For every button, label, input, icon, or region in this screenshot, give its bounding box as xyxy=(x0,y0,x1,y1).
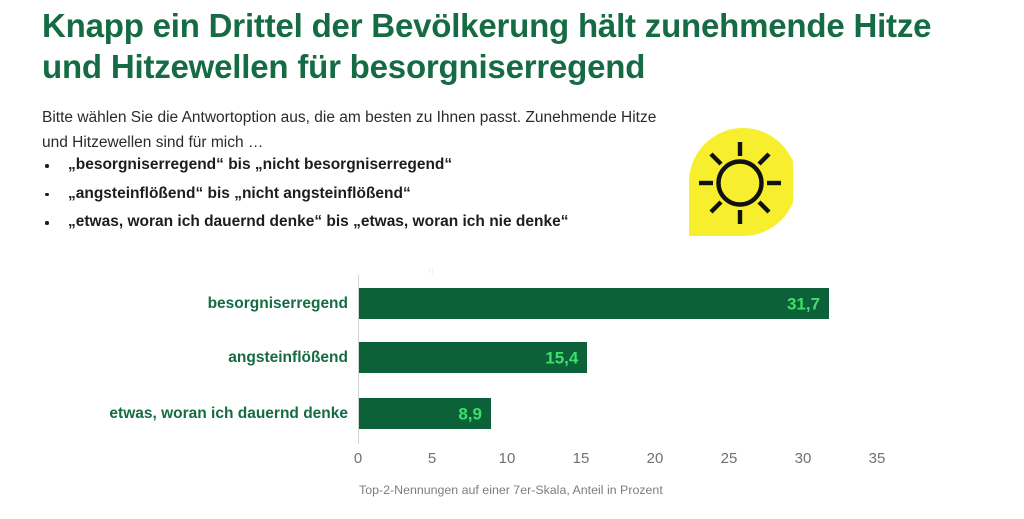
bar-value-label-1: 15,4 xyxy=(545,349,578,366)
xtick-label-30: 30 xyxy=(783,451,823,466)
xtick-label-20: 20 xyxy=(635,451,675,466)
xtick-label-10: 10 xyxy=(487,451,527,466)
sun-in-map-pin-icon xyxy=(687,126,793,238)
axis-note: Top-2-Nennungen auf einer 7er-Skala, Ant… xyxy=(359,484,663,496)
list-item: „besorgniserregend“ bis „nicht besorgnis… xyxy=(42,157,682,173)
category-label-0: besorgniserregend xyxy=(48,296,348,312)
category-label-1: angsteinflößend xyxy=(48,350,348,366)
page-title: Knapp ein Drittel der Bevölkerung hält z… xyxy=(42,6,942,88)
scale-option-list: „besorgniserregend“ bis „nicht besorgnis… xyxy=(42,157,682,243)
list-item-label: „angsteinflößend“ bis „nicht angsteinflö… xyxy=(68,185,411,202)
question-intro-text: Bitte wählen Sie die Antwortoption aus, … xyxy=(42,105,662,155)
bullet-dot-icon xyxy=(45,193,49,197)
list-item-label: „besorgniserregend“ bis „nicht besorgnis… xyxy=(68,156,452,173)
bar-value-label-0: 31,7 xyxy=(787,295,820,312)
scan-artifact: ıı xyxy=(428,266,442,276)
bar-angsteinfloessend: 15,4 xyxy=(359,342,587,373)
bar-besorgniserregend: 31,7 xyxy=(359,288,829,319)
xtick-label-0: 0 xyxy=(338,451,378,466)
bullet-dot-icon xyxy=(45,221,49,225)
axis-baseline xyxy=(358,275,359,444)
xtick-label-25: 25 xyxy=(709,451,749,466)
bar-dauernd-denke: 8,9 xyxy=(359,398,491,429)
list-item-label: „etwas, woran ich dauernd denke“ bis „et… xyxy=(68,213,568,230)
list-item: „angsteinflößend“ bis „nicht angsteinflö… xyxy=(42,186,682,202)
bullet-dot-icon xyxy=(45,164,49,168)
xtick-label-35: 35 xyxy=(857,451,897,466)
xtick-label-15: 15 xyxy=(561,451,601,466)
category-label-2: etwas, woran ich dauernd denke xyxy=(18,406,348,422)
list-item: „etwas, woran ich dauernd denke“ bis „et… xyxy=(42,214,682,230)
bar-value-label-2: 8,9 xyxy=(458,405,482,422)
xtick-label-5: 5 xyxy=(412,451,452,466)
